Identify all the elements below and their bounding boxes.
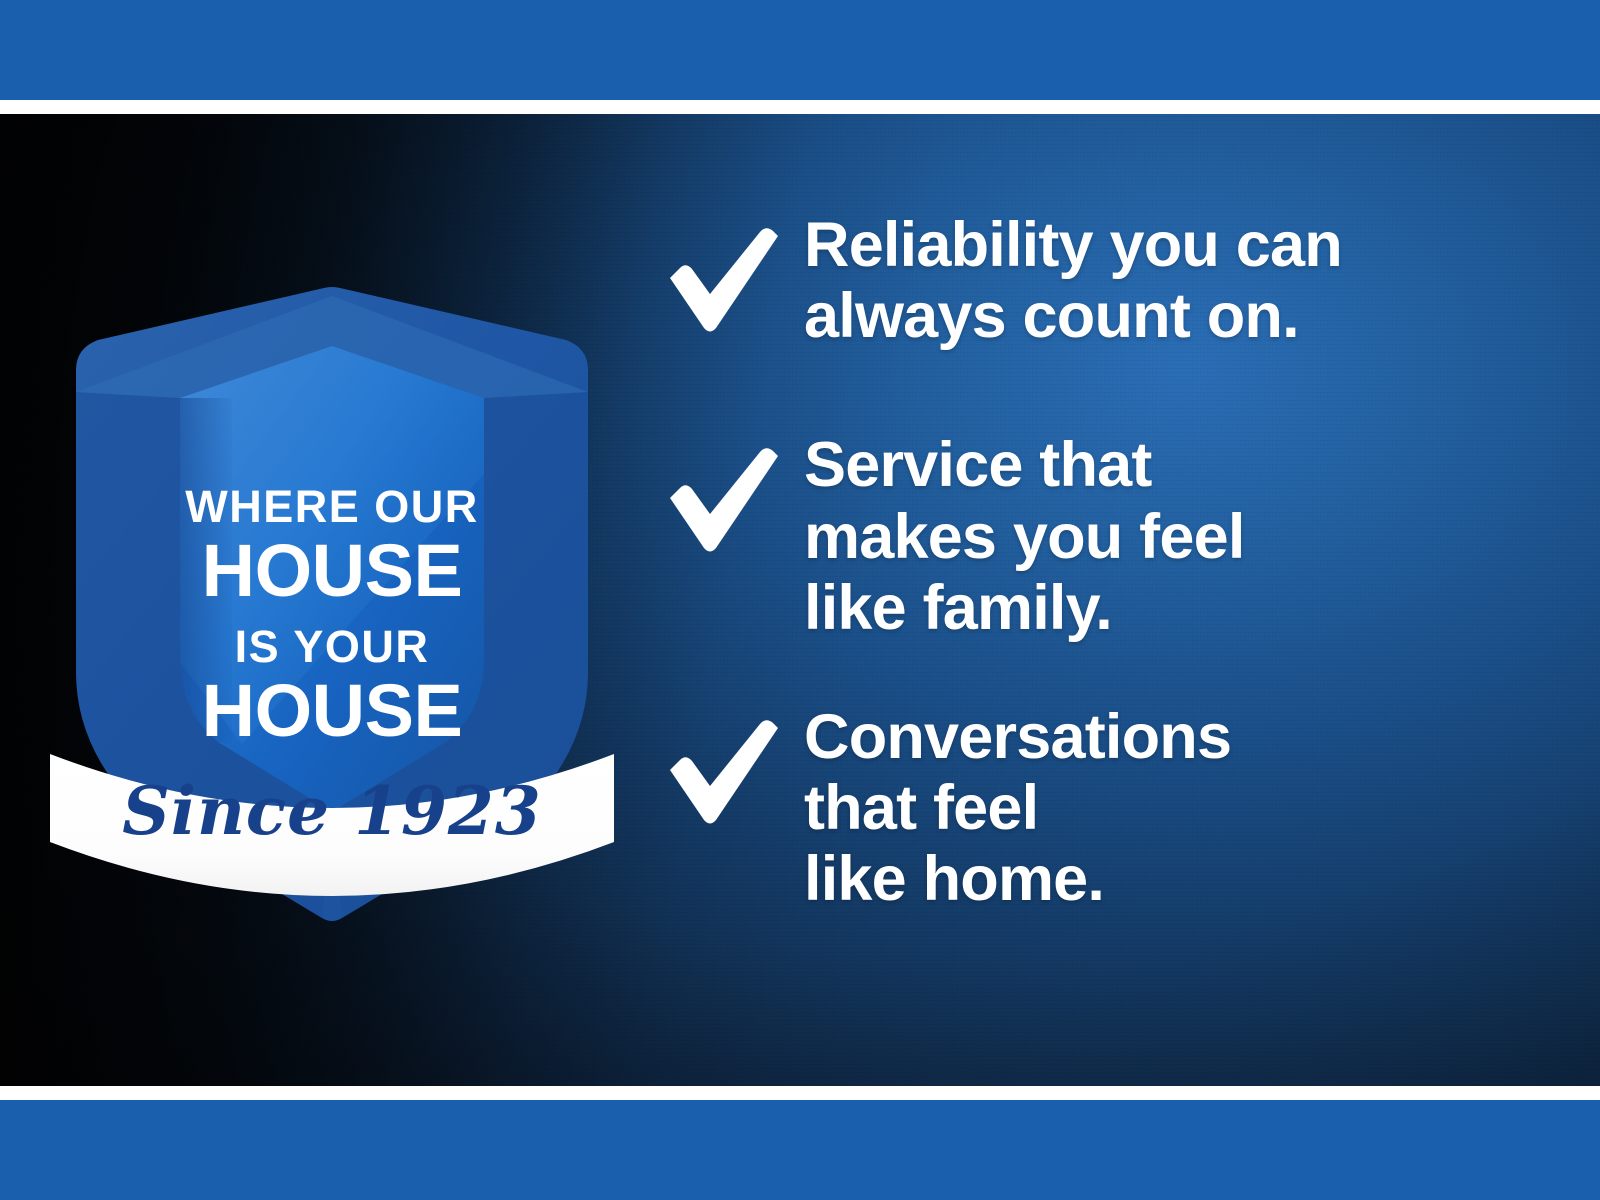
bottom-white-divider: [0, 1086, 1600, 1100]
check-icon: [664, 444, 780, 554]
check-icon: [664, 716, 780, 826]
benefit-text: Service that makes you feel like family.: [804, 430, 1245, 644]
shield-ribbon: Since 1923: [50, 754, 614, 896]
top-brand-band: [0, 0, 1600, 100]
ribbon-since-text: Since 1923: [122, 772, 542, 850]
badge-line-2: HOUSE: [202, 529, 463, 612]
main-stage: WHERE OUR HOUSE IS YOUR HOUSE Since 1923: [0, 114, 1600, 1086]
promo-banner: WHERE OUR HOUSE IS YOUR HOUSE Since 1923: [0, 0, 1600, 1200]
check-icon: [664, 224, 780, 334]
bottom-brand-band: [0, 1100, 1600, 1200]
benefit-item-service: Service that makes you feel like family.: [664, 430, 1524, 644]
top-white-divider: [0, 100, 1600, 114]
badge-line-4: HOUSE: [202, 669, 463, 752]
benefit-text: Reliability you can always count on.: [804, 210, 1342, 352]
badge-line-1: WHERE OUR: [185, 481, 479, 532]
benefits-list: Reliability you can always count on. Ser…: [664, 210, 1524, 916]
badge-line-3: IS YOUR: [235, 621, 430, 672]
benefit-item-conversations: Conversations that feel like home.: [664, 702, 1524, 916]
benefit-item-reliability: Reliability you can always count on.: [664, 210, 1524, 352]
benefit-text: Conversations that feel like home.: [804, 702, 1231, 916]
shield-badge: WHERE OUR HOUSE IS YOUR HOUSE Since 1923: [62, 274, 602, 934]
